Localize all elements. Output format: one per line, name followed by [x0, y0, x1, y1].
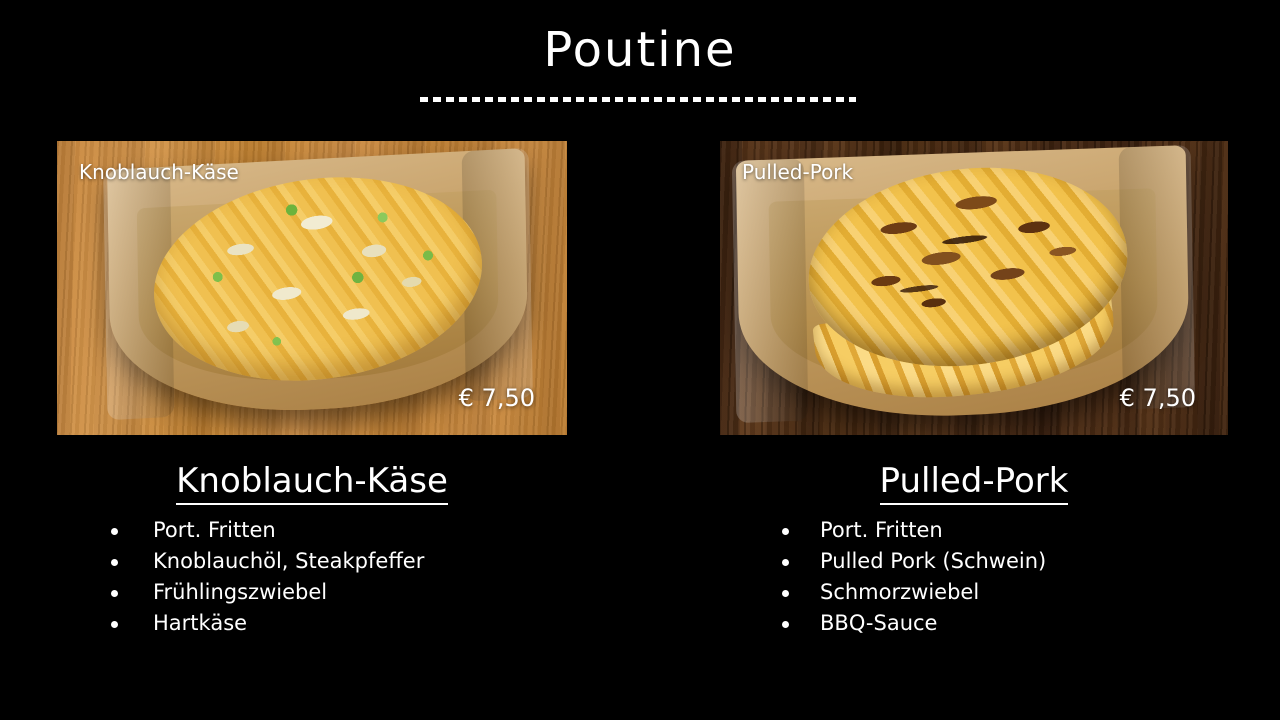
page-title: Poutine	[0, 22, 1280, 78]
ingredient-text: Port. Fritten	[820, 518, 943, 542]
title-divider	[420, 97, 856, 102]
ingredient-list-knoblauch-kaese: Port. Fritten Knoblauchöl, Steakpfeffer …	[57, 515, 567, 639]
list-item: Hartkäse	[57, 608, 567, 639]
list-item: Port. Fritten	[720, 515, 1228, 546]
ingredient-text: Frühlingszwiebel	[153, 580, 327, 604]
photo-label-knoblauch-kaese: Knoblauch-Käse	[79, 159, 239, 185]
ingredient-text: Knoblauchöl, Steakpfeffer	[153, 549, 424, 573]
bullet-icon	[111, 528, 118, 535]
photo-label-pulled-pork: Pulled-Pork	[742, 159, 853, 185]
dish-photo-knoblauch-kaese: Knoblauch-Käse € 7,50	[57, 141, 567, 435]
dish-title-text: Pulled-Pork	[880, 460, 1069, 505]
dish-title-knoblauch-kaese: Knoblauch-Käse	[57, 460, 567, 505]
menu-card-knoblauch-kaese[interactable]: Knoblauch-Käse € 7,50	[57, 141, 567, 435]
list-item: Port. Fritten	[57, 515, 567, 546]
bullet-icon	[111, 559, 118, 566]
bullet-icon	[111, 621, 118, 628]
menu-card-pulled-pork[interactable]: Pulled-Pork € 7,50	[720, 141, 1228, 435]
bullet-icon	[782, 559, 789, 566]
ingredient-text: Hartkäse	[153, 611, 247, 635]
bullet-icon	[782, 590, 789, 597]
list-item: Frühlingszwiebel	[57, 577, 567, 608]
ingredient-text: BBQ-Sauce	[820, 611, 937, 635]
list-item: Schmorzwiebel	[720, 577, 1228, 608]
dish-title-text: Knoblauch-Käse	[176, 460, 448, 505]
ingredient-text: Schmorzwiebel	[820, 580, 979, 604]
menu-slide: Poutine Knoblauch-Käse € 7,50 Knoblauch-…	[0, 0, 1280, 720]
photo-price-knoblauch-kaese: € 7,50	[459, 383, 535, 413]
caption-pulled-pork: Pulled-Pork Port. Fritten Pulled Pork (S…	[720, 460, 1228, 639]
list-item: Knoblauchöl, Steakpfeffer	[57, 546, 567, 577]
list-item: BBQ-Sauce	[720, 608, 1228, 639]
list-item: Pulled Pork (Schwein)	[720, 546, 1228, 577]
photo-price-pulled-pork: € 7,50	[1120, 383, 1196, 413]
bullet-icon	[782, 621, 789, 628]
bullet-icon	[111, 590, 118, 597]
ingredient-text: Port. Fritten	[153, 518, 276, 542]
caption-knoblauch-kaese: Knoblauch-Käse Port. Fritten Knoblauchöl…	[57, 460, 567, 639]
bullet-icon	[782, 528, 789, 535]
ingredient-list-pulled-pork: Port. Fritten Pulled Pork (Schwein) Schm…	[720, 515, 1228, 639]
ingredient-text: Pulled Pork (Schwein)	[820, 549, 1046, 573]
dish-title-pulled-pork: Pulled-Pork	[720, 460, 1228, 505]
dish-photo-pulled-pork: Pulled-Pork € 7,50	[720, 141, 1228, 435]
